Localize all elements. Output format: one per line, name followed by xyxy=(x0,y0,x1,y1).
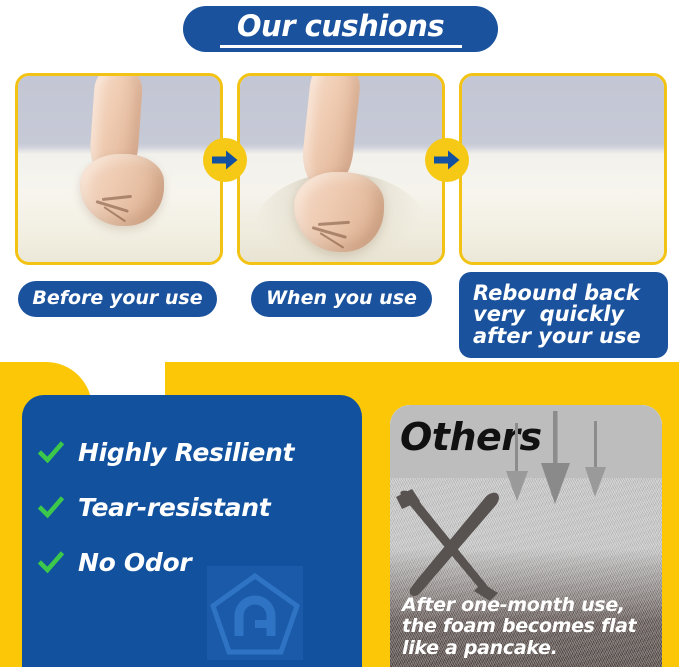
features-panel xyxy=(22,395,362,667)
caption-rebound-back: Rebound back very quickly after your use xyxy=(459,272,668,358)
check-icon xyxy=(38,495,64,521)
page-title-badge: Our cushions xyxy=(183,6,498,52)
x-cross-icon xyxy=(390,483,516,607)
feature-label: Tear-resistant xyxy=(78,493,270,522)
demo-photo-during xyxy=(237,73,445,265)
page-title: Our cushions xyxy=(237,12,444,41)
check-icon xyxy=(38,550,64,576)
arrow-right-icon xyxy=(203,138,247,182)
caption-when-you-use: When you use xyxy=(251,281,432,317)
pressure-arrows-group xyxy=(498,409,618,521)
feature-item-highly-resilient: Highly Resilient xyxy=(38,438,294,467)
feature-item-tear-resistant: Tear-resistant xyxy=(38,493,270,522)
caption-line: after your use xyxy=(473,326,641,347)
caption-line: After one-month use, xyxy=(402,595,636,616)
others-comparison-card: Others After one-month use, the foam xyxy=(390,405,662,667)
caption-line: like a pancake. xyxy=(402,638,636,659)
feature-label: No Odor xyxy=(78,548,191,577)
arrow-right-icon xyxy=(425,138,469,182)
caption-before-your-use: Before your use xyxy=(18,281,217,317)
caption-line: Rebound back xyxy=(473,283,640,304)
title-underline xyxy=(220,45,462,48)
caption-line: very quickly xyxy=(473,304,624,325)
demo-photo-before xyxy=(15,73,223,265)
others-caption: After one-month use, the foam becomes fl… xyxy=(402,595,636,659)
pentagon-house-logo xyxy=(203,560,307,664)
feature-item-no-odor: No Odor xyxy=(38,548,191,577)
check-icon xyxy=(38,440,64,466)
caption-line: the foam becomes flat xyxy=(402,616,636,637)
feature-label: Highly Resilient xyxy=(78,438,294,467)
demo-photo-after xyxy=(459,73,667,265)
foam-surface-graphic xyxy=(462,76,664,262)
